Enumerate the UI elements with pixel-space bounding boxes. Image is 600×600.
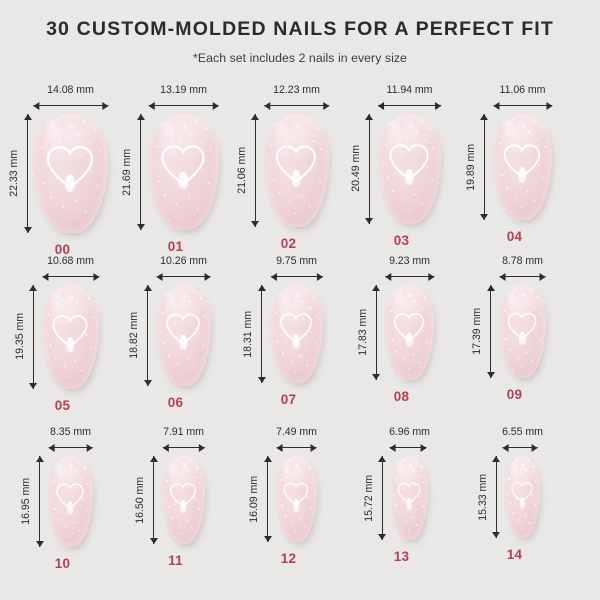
nail-cell-10[interactable]: 8.35 mm16.95 mm10 bbox=[6, 426, 119, 591]
nail-cell-09[interactable]: 8.78 mm17.39 mm09 bbox=[458, 255, 571, 426]
width-arrow-05 bbox=[42, 272, 99, 281]
width-arrow-14 bbox=[502, 443, 537, 452]
width-label-13: 6.96 mm bbox=[389, 426, 430, 438]
nail-body bbox=[148, 114, 219, 230]
nail-swatch-12[interactable] bbox=[276, 456, 316, 542]
arrow-head-right-icon bbox=[93, 273, 99, 281]
nail-cell-01[interactable]: 13.19 mm21.69 mm01 bbox=[119, 84, 232, 255]
nail-swatch-10[interactable] bbox=[48, 456, 93, 547]
length-dimension-09: 17.39 mm bbox=[471, 285, 495, 378]
arrow-head-right-icon bbox=[420, 444, 426, 452]
size-label-13: 13 bbox=[345, 549, 458, 564]
width-label-06: 10.26 mm bbox=[156, 255, 211, 267]
nail-cell-04[interactable]: 11.06 mm19.89 mm04 bbox=[458, 84, 571, 255]
width-dimension-04: 11.06 mm bbox=[493, 84, 552, 110]
length-dimension-05: 19.35 mm bbox=[14, 285, 38, 389]
length-label-14: 15.33 mm bbox=[477, 474, 489, 521]
heart-highlight-drop bbox=[520, 497, 525, 509]
arrow-head-right-icon bbox=[199, 444, 205, 452]
arrow-head-left-icon bbox=[502, 444, 508, 452]
arrow-head-right-icon bbox=[435, 102, 441, 110]
nail-swatch-13[interactable] bbox=[391, 456, 428, 540]
nail-cell-14[interactable]: 6.55 mm15.33 mm14 bbox=[458, 426, 571, 591]
length-label-13: 15.72 mm bbox=[363, 475, 375, 522]
arrow-head-left-icon bbox=[389, 444, 395, 452]
arrow-head-right-icon bbox=[317, 273, 323, 281]
arrow-head-down-icon bbox=[480, 214, 488, 220]
size-label-04: 04 bbox=[458, 229, 571, 244]
length-dimension-13: 15.72 mm bbox=[363, 456, 387, 540]
arrow-head-up-icon bbox=[378, 456, 386, 462]
size-label-02: 02 bbox=[232, 236, 345, 251]
nail-swatch-04[interactable] bbox=[493, 114, 552, 220]
size-label-09: 09 bbox=[458, 387, 571, 402]
length-label-12: 16.09 mm bbox=[248, 476, 260, 523]
nail-cell-12[interactable]: 7.49 mm16.09 mm12 bbox=[232, 426, 345, 591]
length-arrow-02 bbox=[251, 114, 260, 227]
arrow-head-right-icon bbox=[531, 444, 537, 452]
width-label-01: 13.19 mm bbox=[148, 84, 219, 96]
width-arrow-08 bbox=[385, 272, 434, 281]
size-label-06: 06 bbox=[119, 395, 232, 410]
heart-highlight-drop bbox=[519, 167, 527, 183]
width-dimension-14: 6.55 mm bbox=[502, 426, 543, 452]
nail-cell-06[interactable]: 10.26 mm18.82 mm06 bbox=[119, 255, 232, 426]
length-arrow-00 bbox=[23, 114, 32, 233]
arrow-head-right-icon bbox=[102, 102, 108, 110]
length-label-07: 18.31 mm bbox=[242, 311, 254, 358]
arrow-head-down-icon bbox=[29, 383, 37, 389]
arrow-head-right-icon bbox=[310, 444, 316, 452]
size-label-10: 10 bbox=[6, 556, 119, 571]
length-label-10: 16.95 mm bbox=[20, 478, 32, 525]
nail-swatch-02[interactable] bbox=[264, 114, 329, 227]
arrow-head-up-icon bbox=[487, 285, 495, 291]
arrow-head-down-icon bbox=[144, 380, 152, 386]
width-arrow-00 bbox=[33, 101, 108, 110]
width-dimension-03: 11.94 mm bbox=[378, 84, 442, 110]
heart-highlight-drop bbox=[293, 334, 300, 349]
size-label-05: 05 bbox=[6, 398, 119, 413]
size-label-03: 03 bbox=[345, 233, 458, 248]
length-arrow-07 bbox=[257, 285, 266, 383]
arrow-head-right-icon bbox=[205, 273, 211, 281]
length-arrow-01 bbox=[136, 114, 145, 230]
width-arrow-03 bbox=[378, 101, 442, 110]
width-label-05: 10.68 mm bbox=[42, 255, 99, 267]
arrow-head-down-icon bbox=[372, 374, 380, 380]
width-dimension-00: 14.08 mm bbox=[33, 84, 108, 110]
size-label-08: 08 bbox=[345, 389, 458, 404]
length-arrow-06 bbox=[143, 285, 152, 386]
width-dimension-01: 13.19 mm bbox=[148, 84, 219, 110]
length-dimension-04: 19.89 mm bbox=[465, 114, 489, 220]
arrow-head-up-icon bbox=[258, 285, 266, 291]
width-arrow-13 bbox=[389, 443, 426, 452]
length-dimension-03: 20.49 mm bbox=[350, 114, 374, 224]
width-label-07: 9.75 mm bbox=[270, 255, 322, 267]
arrow-head-left-icon bbox=[276, 444, 282, 452]
nail-body bbox=[270, 285, 322, 383]
width-label-04: 11.06 mm bbox=[493, 84, 552, 96]
length-dimension-12: 16.09 mm bbox=[248, 456, 272, 542]
length-dimension-10: 16.95 mm bbox=[20, 456, 44, 547]
arrow-head-right-icon bbox=[213, 102, 219, 110]
nail-swatch-05[interactable] bbox=[42, 285, 99, 389]
nail-cell-07[interactable]: 9.75 mm18.31 mm07 bbox=[232, 255, 345, 426]
length-dimension-06: 18.82 mm bbox=[128, 285, 152, 386]
arrow-head-down-icon bbox=[492, 532, 500, 538]
nail-body bbox=[33, 114, 108, 233]
nail-body bbox=[264, 114, 329, 227]
length-arrow-11 bbox=[149, 456, 158, 544]
width-label-11: 7.91 mm bbox=[162, 426, 204, 438]
width-label-08: 9.23 mm bbox=[385, 255, 434, 267]
arrow-head-left-icon bbox=[148, 102, 154, 110]
width-dimension-09: 8.78 mm bbox=[499, 255, 546, 281]
width-arrow-09 bbox=[499, 272, 546, 281]
nail-body bbox=[42, 285, 99, 389]
arrow-head-down-icon bbox=[251, 221, 259, 227]
page-subtitle: *Each set includes 2 nails in every size bbox=[0, 51, 600, 65]
nail-body bbox=[385, 285, 434, 380]
nail-swatch-14[interactable] bbox=[505, 456, 540, 538]
nail-body bbox=[276, 456, 316, 542]
nail-body bbox=[378, 114, 442, 224]
length-dimension-07: 18.31 mm bbox=[242, 285, 266, 383]
length-dimension-14: 15.33 mm bbox=[477, 456, 501, 538]
nail-swatch-01[interactable] bbox=[148, 114, 219, 230]
heart-highlight-drop bbox=[294, 499, 299, 512]
chart-header: 30 CUSTOM-MOLDED NAILS FOR A PERFECT FIT… bbox=[0, 0, 600, 65]
heart-highlight-drop bbox=[66, 174, 76, 192]
width-dimension-10: 8.35 mm bbox=[48, 426, 93, 452]
length-dimension-02: 21.06 mm bbox=[236, 114, 260, 227]
nail-body bbox=[48, 456, 93, 547]
length-dimension-00: 22.33 mm bbox=[8, 114, 32, 233]
width-label-03: 11.94 mm bbox=[378, 84, 442, 96]
nail-cell-03[interactable]: 11.94 mm20.49 mm03 bbox=[345, 84, 458, 255]
width-label-09: 8.78 mm bbox=[499, 255, 546, 267]
width-dimension-06: 10.26 mm bbox=[156, 255, 211, 281]
arrow-head-down-icon bbox=[258, 377, 266, 383]
arrow-head-right-icon bbox=[87, 444, 93, 452]
width-label-00: 14.08 mm bbox=[33, 84, 108, 96]
length-label-01: 21.69 mm bbox=[121, 149, 133, 196]
arrow-head-up-icon bbox=[251, 114, 259, 120]
length-label-11: 16.50 mm bbox=[134, 477, 146, 524]
heart-highlight-drop bbox=[68, 501, 74, 515]
nail-body bbox=[505, 456, 540, 538]
size-label-07: 07 bbox=[232, 392, 345, 407]
nail-cell-11[interactable]: 7.91 mm16.50 mm11 bbox=[119, 426, 232, 591]
arrow-head-right-icon bbox=[323, 102, 329, 110]
arrow-head-down-icon bbox=[487, 372, 495, 378]
arrow-head-down-icon bbox=[365, 218, 373, 224]
length-arrow-03 bbox=[365, 114, 374, 224]
heart-highlight-drop bbox=[519, 332, 525, 346]
width-arrow-01 bbox=[148, 101, 219, 110]
width-label-14: 6.55 mm bbox=[502, 426, 543, 438]
nail-row: 8.35 mm16.95 mm107.91 mm16.50 mm117.49 m… bbox=[0, 426, 600, 591]
nail-swatch-06[interactable] bbox=[156, 285, 211, 386]
arrow-head-right-icon bbox=[428, 273, 434, 281]
arrow-head-up-icon bbox=[264, 456, 272, 462]
width-dimension-12: 7.49 mm bbox=[276, 426, 317, 452]
length-arrow-10 bbox=[35, 456, 44, 547]
nail-cell-02[interactable]: 12.23 mm21.06 mm02 bbox=[232, 84, 345, 255]
nail-grid: 14.08 mm22.33 mm0013.19 mm21.69 mm0112.2… bbox=[0, 84, 600, 591]
width-dimension-13: 6.96 mm bbox=[389, 426, 430, 452]
nail-size-chart: 30 CUSTOM-MOLDED NAILS FOR A PERFECT FIT… bbox=[0, 0, 600, 600]
width-label-02: 12.23 mm bbox=[264, 84, 329, 96]
width-arrow-04 bbox=[493, 101, 552, 110]
heart-highlight-drop bbox=[407, 498, 412, 511]
nail-swatch-11[interactable] bbox=[162, 456, 204, 544]
width-arrow-06 bbox=[156, 272, 211, 281]
width-dimension-07: 9.75 mm bbox=[270, 255, 322, 281]
arrow-head-left-icon bbox=[48, 444, 54, 452]
width-arrow-10 bbox=[48, 443, 93, 452]
width-arrow-11 bbox=[162, 443, 204, 452]
nail-cell-05[interactable]: 10.68 mm19.35 mm05 bbox=[6, 255, 119, 426]
nail-body bbox=[156, 285, 211, 386]
width-arrow-07 bbox=[270, 272, 322, 281]
arrow-head-left-icon bbox=[270, 273, 276, 281]
length-label-00: 22.33 mm bbox=[8, 150, 20, 197]
arrow-head-left-icon bbox=[42, 273, 48, 281]
width-label-10: 8.35 mm bbox=[48, 426, 93, 438]
arrow-head-left-icon bbox=[33, 102, 39, 110]
arrow-head-up-icon bbox=[29, 285, 37, 291]
size-label-01: 01 bbox=[119, 239, 232, 254]
length-label-05: 19.35 mm bbox=[14, 313, 26, 360]
nail-body bbox=[162, 456, 204, 544]
length-label-08: 17.83 mm bbox=[357, 309, 369, 356]
length-label-09: 17.39 mm bbox=[471, 308, 483, 355]
arrow-head-down-icon bbox=[36, 541, 44, 547]
length-arrow-04 bbox=[480, 114, 489, 220]
width-dimension-05: 10.68 mm bbox=[42, 255, 99, 281]
size-label-14: 14 bbox=[458, 547, 571, 562]
width-arrow-12 bbox=[276, 443, 316, 452]
nail-swatch-08[interactable] bbox=[385, 285, 434, 380]
length-arrow-05 bbox=[29, 285, 38, 389]
arrow-head-left-icon bbox=[378, 102, 384, 110]
length-arrow-13 bbox=[378, 456, 387, 540]
width-dimension-08: 9.23 mm bbox=[385, 255, 434, 281]
arrow-head-up-icon bbox=[480, 114, 488, 120]
arrow-head-right-icon bbox=[546, 102, 552, 110]
nail-row: 14.08 mm22.33 mm0013.19 mm21.69 mm0112.2… bbox=[0, 84, 600, 255]
nail-swatch-03[interactable] bbox=[378, 114, 442, 224]
width-dimension-11: 7.91 mm bbox=[162, 426, 204, 452]
arrow-head-up-icon bbox=[137, 114, 145, 120]
nail-cell-00[interactable]: 14.08 mm22.33 mm00 bbox=[6, 84, 119, 255]
length-arrow-12 bbox=[263, 456, 272, 542]
arrow-head-left-icon bbox=[493, 102, 499, 110]
heart-highlight-drop bbox=[179, 172, 188, 189]
nail-body bbox=[499, 285, 546, 378]
arrow-head-down-icon bbox=[137, 224, 145, 230]
arrow-head-up-icon bbox=[492, 456, 500, 462]
arrow-head-up-icon bbox=[150, 456, 158, 462]
size-label-11: 11 bbox=[119, 553, 232, 568]
length-dimension-01: 21.69 mm bbox=[121, 114, 145, 230]
width-dimension-02: 12.23 mm bbox=[264, 84, 329, 110]
heart-highlight-drop bbox=[180, 335, 187, 350]
nail-body bbox=[391, 456, 428, 540]
nail-swatch-00[interactable] bbox=[33, 114, 108, 233]
length-label-04: 19.89 mm bbox=[465, 144, 477, 191]
arrow-head-right-icon bbox=[540, 273, 546, 281]
length-label-02: 21.06 mm bbox=[236, 147, 248, 194]
heart-highlight-drop bbox=[405, 169, 413, 185]
length-dimension-08: 17.83 mm bbox=[357, 285, 381, 380]
heart-highlight-drop bbox=[292, 170, 301, 187]
arrow-head-left-icon bbox=[264, 102, 270, 110]
arrow-head-left-icon bbox=[499, 273, 505, 281]
arrow-head-up-icon bbox=[36, 456, 44, 462]
nail-body bbox=[493, 114, 552, 220]
arrow-head-left-icon bbox=[156, 273, 162, 281]
heart-highlight-drop bbox=[181, 500, 187, 513]
arrow-head-up-icon bbox=[144, 285, 152, 291]
nail-cell-08[interactable]: 9.23 mm17.83 mm08 bbox=[345, 255, 458, 426]
length-label-03: 20.49 mm bbox=[350, 145, 362, 192]
arrow-head-up-icon bbox=[365, 114, 373, 120]
length-arrow-09 bbox=[486, 285, 495, 378]
length-arrow-14 bbox=[492, 456, 501, 538]
nail-row: 10.68 mm19.35 mm0510.26 mm18.82 mm069.75… bbox=[0, 255, 600, 426]
arrow-head-down-icon bbox=[264, 536, 272, 542]
arrow-head-down-icon bbox=[378, 534, 386, 540]
length-dimension-11: 16.50 mm bbox=[134, 456, 158, 544]
length-label-06: 18.82 mm bbox=[128, 312, 140, 359]
arrow-head-down-icon bbox=[24, 227, 32, 233]
nail-swatch-09[interactable] bbox=[499, 285, 546, 378]
arrow-head-left-icon bbox=[162, 444, 168, 452]
page-title: 30 CUSTOM-MOLDED NAILS FOR A PERFECT FIT bbox=[0, 18, 600, 41]
arrow-head-up-icon bbox=[24, 114, 32, 120]
nail-cell-13[interactable]: 6.96 mm15.72 mm13 bbox=[345, 426, 458, 591]
width-label-12: 7.49 mm bbox=[276, 426, 317, 438]
nail-swatch-07[interactable] bbox=[270, 285, 322, 383]
arrow-head-up-icon bbox=[372, 285, 380, 291]
size-label-12: 12 bbox=[232, 551, 345, 566]
length-arrow-08 bbox=[372, 285, 381, 380]
arrow-head-down-icon bbox=[150, 538, 158, 544]
arrow-head-left-icon bbox=[385, 273, 391, 281]
width-arrow-02 bbox=[264, 101, 329, 110]
